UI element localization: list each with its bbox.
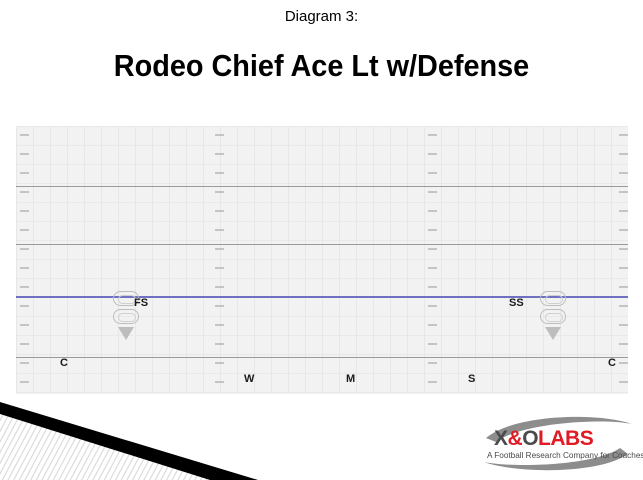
- oval-inner: [545, 313, 563, 322]
- logo-letter-x: X: [494, 427, 508, 450]
- field-hash-mark: [20, 248, 29, 250]
- field-hash-mark: [619, 191, 628, 193]
- field-hash-mark: [428, 324, 437, 326]
- field-grid-line-horizontal: [16, 392, 628, 393]
- logo-wordmark: X&OLABS: [494, 428, 593, 449]
- field-grid-line-horizontal: [16, 335, 628, 336]
- field-hash-mark: [20, 191, 29, 193]
- strong-safety-token-direction-arrow-icon: [545, 327, 561, 340]
- logo-tagline: A Football Research Company for Coaches: [487, 452, 643, 460]
- field-hash-mark: [20, 134, 29, 136]
- field-hash-mark: [215, 153, 224, 155]
- field-hash-mark: [20, 229, 29, 231]
- field-hash-mark: [20, 286, 29, 288]
- field-yard-line: [16, 186, 628, 187]
- field-hash-mark: [215, 267, 224, 269]
- field-grid-line-horizontal: [16, 202, 628, 203]
- field-hash-mark: [428, 134, 437, 136]
- field-label-will-linebacker: W: [244, 374, 254, 385]
- oval-inner: [545, 295, 563, 304]
- field-hash-mark: [215, 134, 224, 136]
- field-hash-mark: [215, 324, 224, 326]
- field-grid-line-horizontal: [16, 221, 628, 222]
- field-hash-mark: [20, 343, 29, 345]
- field-hash-mark: [619, 286, 628, 288]
- field-label-corner-right: C: [608, 358, 616, 369]
- field-grid-line-horizontal: [16, 164, 628, 165]
- strong-safety-token-oval-bottom: [540, 309, 566, 324]
- field-yard-line: [16, 244, 628, 245]
- field-hash-mark: [619, 229, 628, 231]
- field-hash-mark: [619, 172, 628, 174]
- field-hash-mark: [428, 210, 437, 212]
- field-hash-mark: [428, 286, 437, 288]
- field-label-sam-linebacker: S: [468, 374, 475, 385]
- field-hash-mark: [215, 305, 224, 307]
- field-hash-mark: [215, 191, 224, 193]
- field-hash-mark: [20, 381, 29, 383]
- field-hash-mark: [20, 172, 29, 174]
- diagram-label: Diagram 3:: [0, 8, 643, 25]
- deco-svg: [0, 398, 300, 480]
- free-safety-token-oval-bottom: [113, 309, 139, 324]
- field-hash-mark: [215, 286, 224, 288]
- field-grid-line-horizontal: [16, 354, 628, 355]
- field-hash-mark: [619, 267, 628, 269]
- slide-canvas: Diagram 3: Rodeo Chief Ace Lt w/Defense …: [0, 0, 643, 480]
- field-hash-mark: [619, 153, 628, 155]
- decorative-diagonal-graphic: [0, 398, 300, 480]
- field-grid-line-horizontal: [16, 278, 628, 279]
- strong-safety-token-oval-top: [540, 291, 566, 306]
- field-hash-mark: [20, 362, 29, 364]
- field-hash-mark: [428, 172, 437, 174]
- oval-inner: [118, 313, 136, 322]
- field-hash-mark: [428, 153, 437, 155]
- xo-labs-logo: X&OLABS A Football Research Company for …: [478, 412, 638, 474]
- logo-letter-o: O: [522, 427, 538, 450]
- field-grid-line-horizontal: [16, 373, 628, 374]
- field-hash-mark: [215, 362, 224, 364]
- field-hash-mark: [215, 210, 224, 212]
- field-grid-line-horizontal: [16, 126, 628, 127]
- field-hash-mark: [215, 381, 224, 383]
- field-hash-mark: [20, 210, 29, 212]
- field-hash-mark: [428, 305, 437, 307]
- field-hash-mark: [20, 324, 29, 326]
- field-hash-mark: [428, 362, 437, 364]
- field-grid-line-horizontal: [16, 145, 628, 146]
- logo-word-labs: LABS: [538, 427, 593, 450]
- field-hash-mark: [619, 134, 628, 136]
- field-hash-mark: [428, 248, 437, 250]
- field-hash-mark: [20, 305, 29, 307]
- field-yard-line: [16, 357, 628, 358]
- field-hash-mark: [215, 229, 224, 231]
- field-grid-line-horizontal: [16, 259, 628, 260]
- field-hash-mark: [428, 381, 437, 383]
- field-hash-mark: [428, 343, 437, 345]
- line-of-scrimmage: [16, 296, 628, 298]
- free-safety-token-direction-arrow-icon: [118, 327, 134, 340]
- field-hash-mark: [215, 343, 224, 345]
- field-hash-mark: [619, 210, 628, 212]
- field-hash-mark: [20, 153, 29, 155]
- logo-letter-amp: &: [508, 427, 523, 450]
- field-hash-mark: [619, 248, 628, 250]
- field-grid-line-horizontal: [16, 183, 628, 184]
- page-title: Rodeo Chief Ace Lt w/Defense: [23, 48, 621, 84]
- football-field-diagram: FSSSCCWMSENTEYQZTAX: [16, 126, 628, 394]
- field-hash-mark: [619, 305, 628, 307]
- field-label-corner-left: C: [60, 358, 68, 369]
- field-hash-mark: [215, 248, 224, 250]
- field-label-mike-linebacker: M: [346, 374, 355, 385]
- field-hash-mark: [619, 381, 628, 383]
- field-hash-mark: [428, 191, 437, 193]
- field-hash-mark: [20, 267, 29, 269]
- field-label-free-safety: FS: [134, 298, 148, 309]
- field-grid-line-horizontal: [16, 240, 628, 241]
- field-hash-mark: [215, 172, 224, 174]
- field-hash-mark: [619, 343, 628, 345]
- field-label-strong-safety: SS: [509, 298, 524, 309]
- field-hash-mark: [619, 324, 628, 326]
- field-hash-mark: [428, 229, 437, 231]
- field-hash-mark: [619, 362, 628, 364]
- field-hash-mark: [428, 267, 437, 269]
- field-grid-line-horizontal: [16, 316, 628, 317]
